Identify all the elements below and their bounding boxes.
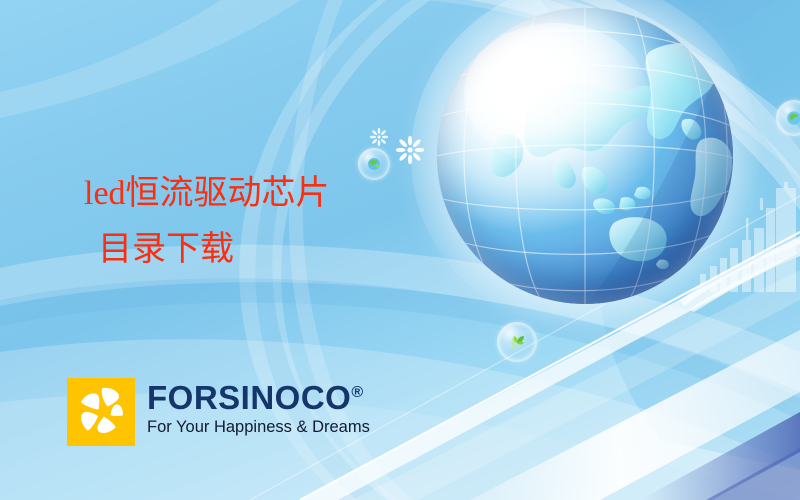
brand-name: FORSINOCO® (147, 380, 370, 416)
promo-banner: led恒流驱动芯片 目录下载 FORSINOCO® For Your Happi… (0, 0, 800, 500)
globe-icon (784, 108, 800, 128)
flower-sparkle-large (396, 136, 424, 164)
bubble-leaf-icon (497, 322, 537, 362)
registered-trademark-symbol: ® (351, 384, 363, 401)
city-skyline-silhouette (680, 182, 800, 312)
flower-sparkle-small (370, 128, 388, 146)
brand-logo[interactable]: FORSINOCO® For Your Happiness & Dreams (67, 378, 370, 446)
forsinoco-pinwheel-mark (67, 378, 135, 446)
pinwheel-icon (67, 378, 135, 446)
logo-text-block: FORSINOCO® For Your Happiness & Dreams (147, 378, 370, 437)
leaf-icon (505, 330, 529, 354)
brand-name-text: FORSINOCO (147, 379, 351, 416)
headline-line-1: led恒流驱动芯片 (84, 166, 424, 222)
headline-line-2: 目录下载 (84, 222, 424, 278)
brand-tagline: For Your Happiness & Dreams (147, 417, 370, 437)
page-title: led恒流驱动芯片 目录下载 (84, 166, 424, 278)
